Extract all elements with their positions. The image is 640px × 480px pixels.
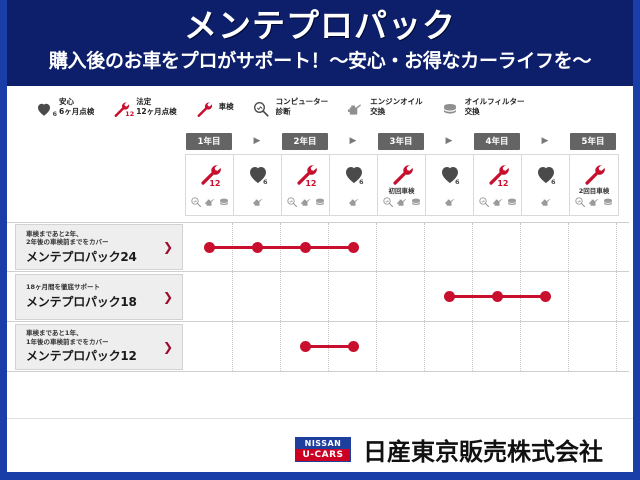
grid-line <box>473 223 521 271</box>
timeline-column-8: 6 <box>522 155 570 215</box>
package-name: メンテプロパック18 <box>26 293 182 310</box>
logo-ucars-text: U-CARS <box>296 449 350 461</box>
timeline-column-6: 6 <box>426 155 474 215</box>
column-badge: 12 <box>497 179 508 188</box>
year-label: 5年目 <box>570 133 616 150</box>
column-badge: 12 <box>209 179 220 188</box>
magnifier-icon <box>286 193 298 212</box>
legend-item-0: 6安心6ヶ月点検 <box>33 96 94 118</box>
column-badge: 6 <box>263 178 268 186</box>
timeline-grid: 126126初回車検61262回目車検 車検まであと2年、2年後の車検前までをカ… <box>7 154 629 394</box>
package-desc: 車検まであと1年、1年後の車検前までをカバー <box>26 329 182 346</box>
year-label: 1年目 <box>186 133 232 150</box>
grid-line <box>569 272 617 321</box>
sub-icon-row <box>570 193 618 212</box>
package-desc: 18ヶ月間を徹底サポート <box>26 283 182 292</box>
oil-can-icon <box>588 193 600 212</box>
timeline-column-9: 2回目車検 <box>570 155 618 215</box>
timeline-column-2: 6 <box>234 155 282 215</box>
grid-line <box>569 223 617 271</box>
legend-badge: 12 <box>125 110 134 118</box>
oil-can-icon <box>348 193 360 212</box>
package-name: メンテプロパック12 <box>26 347 182 364</box>
grid-line <box>377 322 425 371</box>
package-name: メンテプロパック24 <box>26 248 182 265</box>
oil-filter-icon <box>314 193 326 212</box>
column-badge: 6 <box>551 178 556 186</box>
oil-can-icon <box>444 193 456 212</box>
coverage-track <box>185 272 617 321</box>
package-row-1[interactable]: 車検まであと2年、2年後の車検前までをカバーメンテプロパック24❯ <box>7 222 629 272</box>
year-label: 3年目 <box>378 133 424 150</box>
year-cell-1: 1年目 <box>185 133 233 150</box>
year-arrow-icon: ▶ <box>329 136 377 146</box>
sub-icon-row <box>522 193 569 212</box>
grid-line <box>425 322 473 371</box>
coverage-track <box>185 223 617 271</box>
coverage-dot <box>348 341 359 352</box>
oil-can-icon <box>540 193 552 212</box>
grid-line <box>233 322 281 371</box>
wrench-icon <box>193 96 215 118</box>
magnifier-icon <box>250 96 272 118</box>
year-cell-4: 4年目 <box>473 133 521 150</box>
legend-item-5: オイルフィルター交換 <box>439 96 525 118</box>
oil-filter-icon <box>602 193 614 212</box>
year-label: 2年目 <box>282 133 328 150</box>
magnifier-icon <box>190 193 202 212</box>
package-label-box[interactable]: 18ヶ月間を徹底サポートメンテプロパック18❯ <box>15 274 183 320</box>
legend-label: 法定12ヶ月点検 <box>136 97 176 116</box>
wrench-icon: 12 <box>486 159 510 189</box>
timeline-column-1: 12 <box>186 155 234 215</box>
chevron-right-icon[interactable]: ❯ <box>163 340 173 354</box>
coverage-dot <box>540 291 551 302</box>
coverage-dot <box>300 242 311 253</box>
grid-line <box>233 272 281 321</box>
year-arrow-icon: ▶ <box>521 136 569 146</box>
coverage-track <box>185 322 617 371</box>
grid-line <box>425 223 473 271</box>
heart-icon: 6 <box>246 159 270 189</box>
coverage-dot <box>300 341 311 352</box>
column-badge: 12 <box>305 179 316 188</box>
company-name: 日産東京販売株式会社 <box>363 432 603 467</box>
year-arrow-icon: ▶ <box>425 136 473 146</box>
grid-line <box>569 322 617 371</box>
oil-can-icon <box>396 193 408 212</box>
coverage-bar <box>209 246 353 249</box>
grid-line <box>377 272 425 321</box>
magnifier-icon <box>478 193 490 212</box>
package-label-box[interactable]: 車検まであと1年、1年後の車検前までをカバーメンテプロパック12❯ <box>15 324 183 370</box>
grid-line <box>185 272 233 321</box>
flyer-page: メンテプロパック 購入後のお車をプロがサポート！～安心・お得なカーライフを～ 6… <box>0 0 640 480</box>
timeline-column-5: 初回車検 <box>378 155 426 215</box>
oil-filter-icon <box>218 193 230 212</box>
heart-icon: 6 <box>534 159 558 189</box>
timeline-column-3: 12 <box>282 155 330 215</box>
oil-can-icon <box>300 193 312 212</box>
chevron-right-icon[interactable]: ❯ <box>163 240 173 254</box>
package-row-2[interactable]: 18ヶ月間を徹底サポートメンテプロパック18❯ <box>7 272 629 322</box>
nissan-ucars-logo: NISSAN U-CARS <box>295 437 351 462</box>
timeline-column-7: 12 <box>474 155 522 215</box>
oil-can-icon <box>204 193 216 212</box>
oil-can-icon <box>492 193 504 212</box>
package-row-3[interactable]: 車検まであと1年、1年後の車検前までをカバーメンテプロパック12❯ <box>7 322 629 372</box>
legend-label: オイルフィルター交換 <box>465 97 525 116</box>
package-label-box[interactable]: 車検まであと2年、2年後の車検前までをカバーメンテプロパック24❯ <box>15 224 183 270</box>
sub-icon-row <box>474 193 521 212</box>
page-subtitle: 購入後のお車をプロがサポート！～安心・お得なカーライフを～ <box>7 47 633 75</box>
service-icon-row: 126126初回車検61262回目車検 <box>185 154 619 216</box>
oil-can-icon <box>252 193 264 212</box>
magnifier-icon <box>574 193 586 212</box>
sub-icon-row <box>426 193 473 212</box>
package-desc: 車検まであと2年、2年後の車検前までをカバー <box>26 230 182 247</box>
heart-icon: 6 <box>33 96 55 118</box>
sub-icon-row <box>330 193 377 212</box>
legend-label: エンジンオイル交換 <box>370 97 423 116</box>
legend-label: 安心6ヶ月点検 <box>59 97 94 116</box>
legend-item-3: コンピューター診断 <box>250 96 329 118</box>
magnifier-icon <box>382 193 394 212</box>
year-cell-5: 5年目 <box>569 133 617 150</box>
year-cell-3: 3年目 <box>377 133 425 150</box>
year-cell-2: 2年目 <box>281 133 329 150</box>
heart-icon: 6 <box>438 159 462 189</box>
legend-label: コンピューター診断 <box>276 97 329 116</box>
legend-item-1: 12法定12ヶ月点検 <box>110 96 176 118</box>
footer-bar: NISSAN U-CARS 日産東京販売株式会社 <box>7 418 633 480</box>
oil-can-icon <box>344 96 366 118</box>
wrench-icon <box>390 159 414 189</box>
grid-line <box>185 322 233 371</box>
oil-filter-icon <box>410 193 422 212</box>
legend-bar: 6安心6ヶ月点検12法定12ヶ月点検車検コンピューター診断エンジンオイル交換オイ… <box>7 86 633 128</box>
legend-label: 車検 <box>219 102 234 112</box>
coverage-dot <box>348 242 359 253</box>
timeline-column-4: 6 <box>330 155 378 215</box>
wrench-icon: 12 <box>198 159 222 189</box>
package-rows: 車検まであと2年、2年後の車検前までをカバーメンテプロパック24❯18ヶ月間を徹… <box>7 222 629 372</box>
sub-icon-row <box>282 193 329 212</box>
sub-icon-row <box>378 193 425 212</box>
sub-icon-row <box>234 193 281 212</box>
oil-filter-icon <box>506 193 518 212</box>
year-arrow-icon: ▶ <box>233 136 281 146</box>
heart-icon: 6 <box>342 159 366 189</box>
header-banner: メンテプロパック 購入後のお車をプロがサポート！～安心・お得なカーライフを～ <box>7 0 633 86</box>
chevron-right-icon[interactable]: ❯ <box>163 290 173 304</box>
grid-line <box>329 272 377 321</box>
logo-nissan-text: NISSAN <box>296 438 350 449</box>
coverage-dot <box>444 291 455 302</box>
legend-item-2: 車検 <box>193 96 234 118</box>
grid-line <box>473 322 521 371</box>
column-badge: 6 <box>455 178 460 186</box>
oil-filter-icon <box>439 96 461 118</box>
coverage-dot <box>252 242 263 253</box>
wrench-icon: 12 <box>294 159 318 189</box>
year-label: 4年目 <box>474 133 520 150</box>
grid-line <box>521 322 569 371</box>
coverage-bar <box>305 345 353 348</box>
column-badge: 6 <box>359 178 364 186</box>
grid-line <box>377 223 425 271</box>
wrench-icon <box>582 159 606 189</box>
coverage-dot <box>204 242 215 253</box>
page-title: メンテプロパック <box>7 2 633 47</box>
legend-badge: 6 <box>52 110 57 118</box>
coverage-dot <box>492 291 503 302</box>
grid-line <box>521 223 569 271</box>
wrench-icon: 12 <box>110 96 132 118</box>
sub-icon-row <box>186 193 233 212</box>
grid-line <box>281 272 329 321</box>
legend-item-4: エンジンオイル交換 <box>344 96 423 118</box>
year-axis: 1年目▶2年目▶3年目▶4年目▶5年目 <box>185 128 629 154</box>
